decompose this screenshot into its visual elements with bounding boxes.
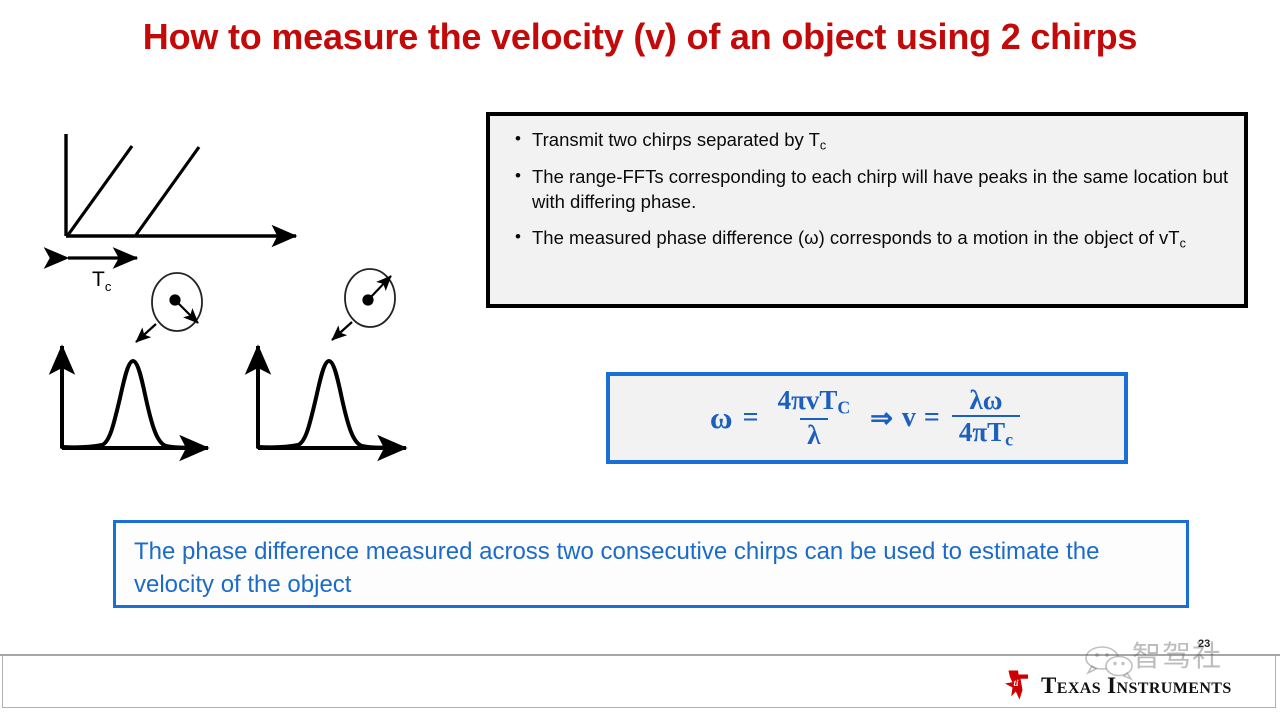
omega-symbol: ω [710, 400, 733, 436]
fraction-omega-numerator: 4πvTC [771, 386, 858, 418]
fraction-velocity-numerator: λω [962, 386, 1009, 415]
phasor-1-callout-arrow [136, 324, 156, 342]
texas-instruments-logo: ti Texas Instruments [998, 668, 1232, 702]
fraction-velocity: λω 4πTc [952, 386, 1020, 450]
equals-sign-2: = [924, 402, 940, 434]
page-number: 23 [1198, 638, 1210, 650]
formula-panel: ω = 4πvTC λ ⇒ v = λω 4πTc [606, 372, 1128, 464]
fft2-peak-curve [258, 361, 392, 448]
bullet-panel: • Transmit two chirps separated by Tc • … [486, 112, 1248, 308]
range-fft-plot-1 [62, 346, 208, 448]
fft1-peak-curve [62, 361, 196, 448]
tc-interval-arrow: Tc [68, 258, 137, 294]
ti-texas-mark-icon: ti [998, 669, 1034, 701]
bullet-item-1-text: Transmit two chirps separated by Tc [532, 128, 1230, 154]
phasor-2-vector [369, 276, 391, 299]
bullet-marker-icon: • [504, 226, 532, 249]
bullet-item-3: • The measured phase difference (ω) corr… [504, 226, 1230, 252]
range-fft-plot-2 [258, 346, 406, 448]
fraction-omega: 4πvTC λ [771, 386, 858, 451]
bullet-item-2-text: The range-FFTs corresponding to each chi… [532, 165, 1230, 215]
bullet-item-3-text: The measured phase difference (ω) corres… [532, 226, 1230, 252]
chirp-ramp-1 [68, 146, 132, 235]
bullet-item-1: • Transmit two chirps separated by Tc [504, 128, 1230, 154]
bullet-item-2: • The range-FFTs corresponding to each c… [504, 165, 1230, 215]
svg-text:ti: ti [1014, 678, 1020, 688]
bullet-marker-icon: • [504, 128, 532, 151]
equals-sign-1: = [743, 402, 759, 434]
diagram-svg: Tc [40, 118, 460, 468]
phasor-2-callout-arrow [332, 322, 352, 340]
page-title: How to measure the velocity (v) of an ob… [0, 16, 1280, 58]
ti-wordmark: Texas Instruments [1041, 674, 1232, 697]
bullet-1-subscript: c [820, 139, 826, 153]
implies-arrow-icon: ⇒ [870, 403, 893, 434]
fraction-omega-denominator: λ [800, 418, 827, 451]
phasor-circle-2 [332, 269, 395, 340]
velocity-symbol: v [902, 402, 916, 434]
chirp-velocity-diagram: Tc [40, 118, 460, 468]
bullet-marker-icon: • [504, 165, 532, 188]
phasor-1-vector [177, 302, 198, 323]
chirp-ramp-2 [136, 147, 199, 235]
fraction-velocity-denominator: 4πTc [952, 415, 1020, 450]
conclusion-panel: The phase difference measured across two… [113, 520, 1189, 608]
chirp-ramp-plot [66, 134, 296, 236]
bullet-3-subscript: c [1180, 236, 1186, 250]
tc-label: Tc [92, 268, 112, 294]
velocity-equation: ω = 4πvTC λ ⇒ v = λω 4πTc [710, 386, 1024, 451]
phasor-circle-1 [136, 273, 202, 342]
